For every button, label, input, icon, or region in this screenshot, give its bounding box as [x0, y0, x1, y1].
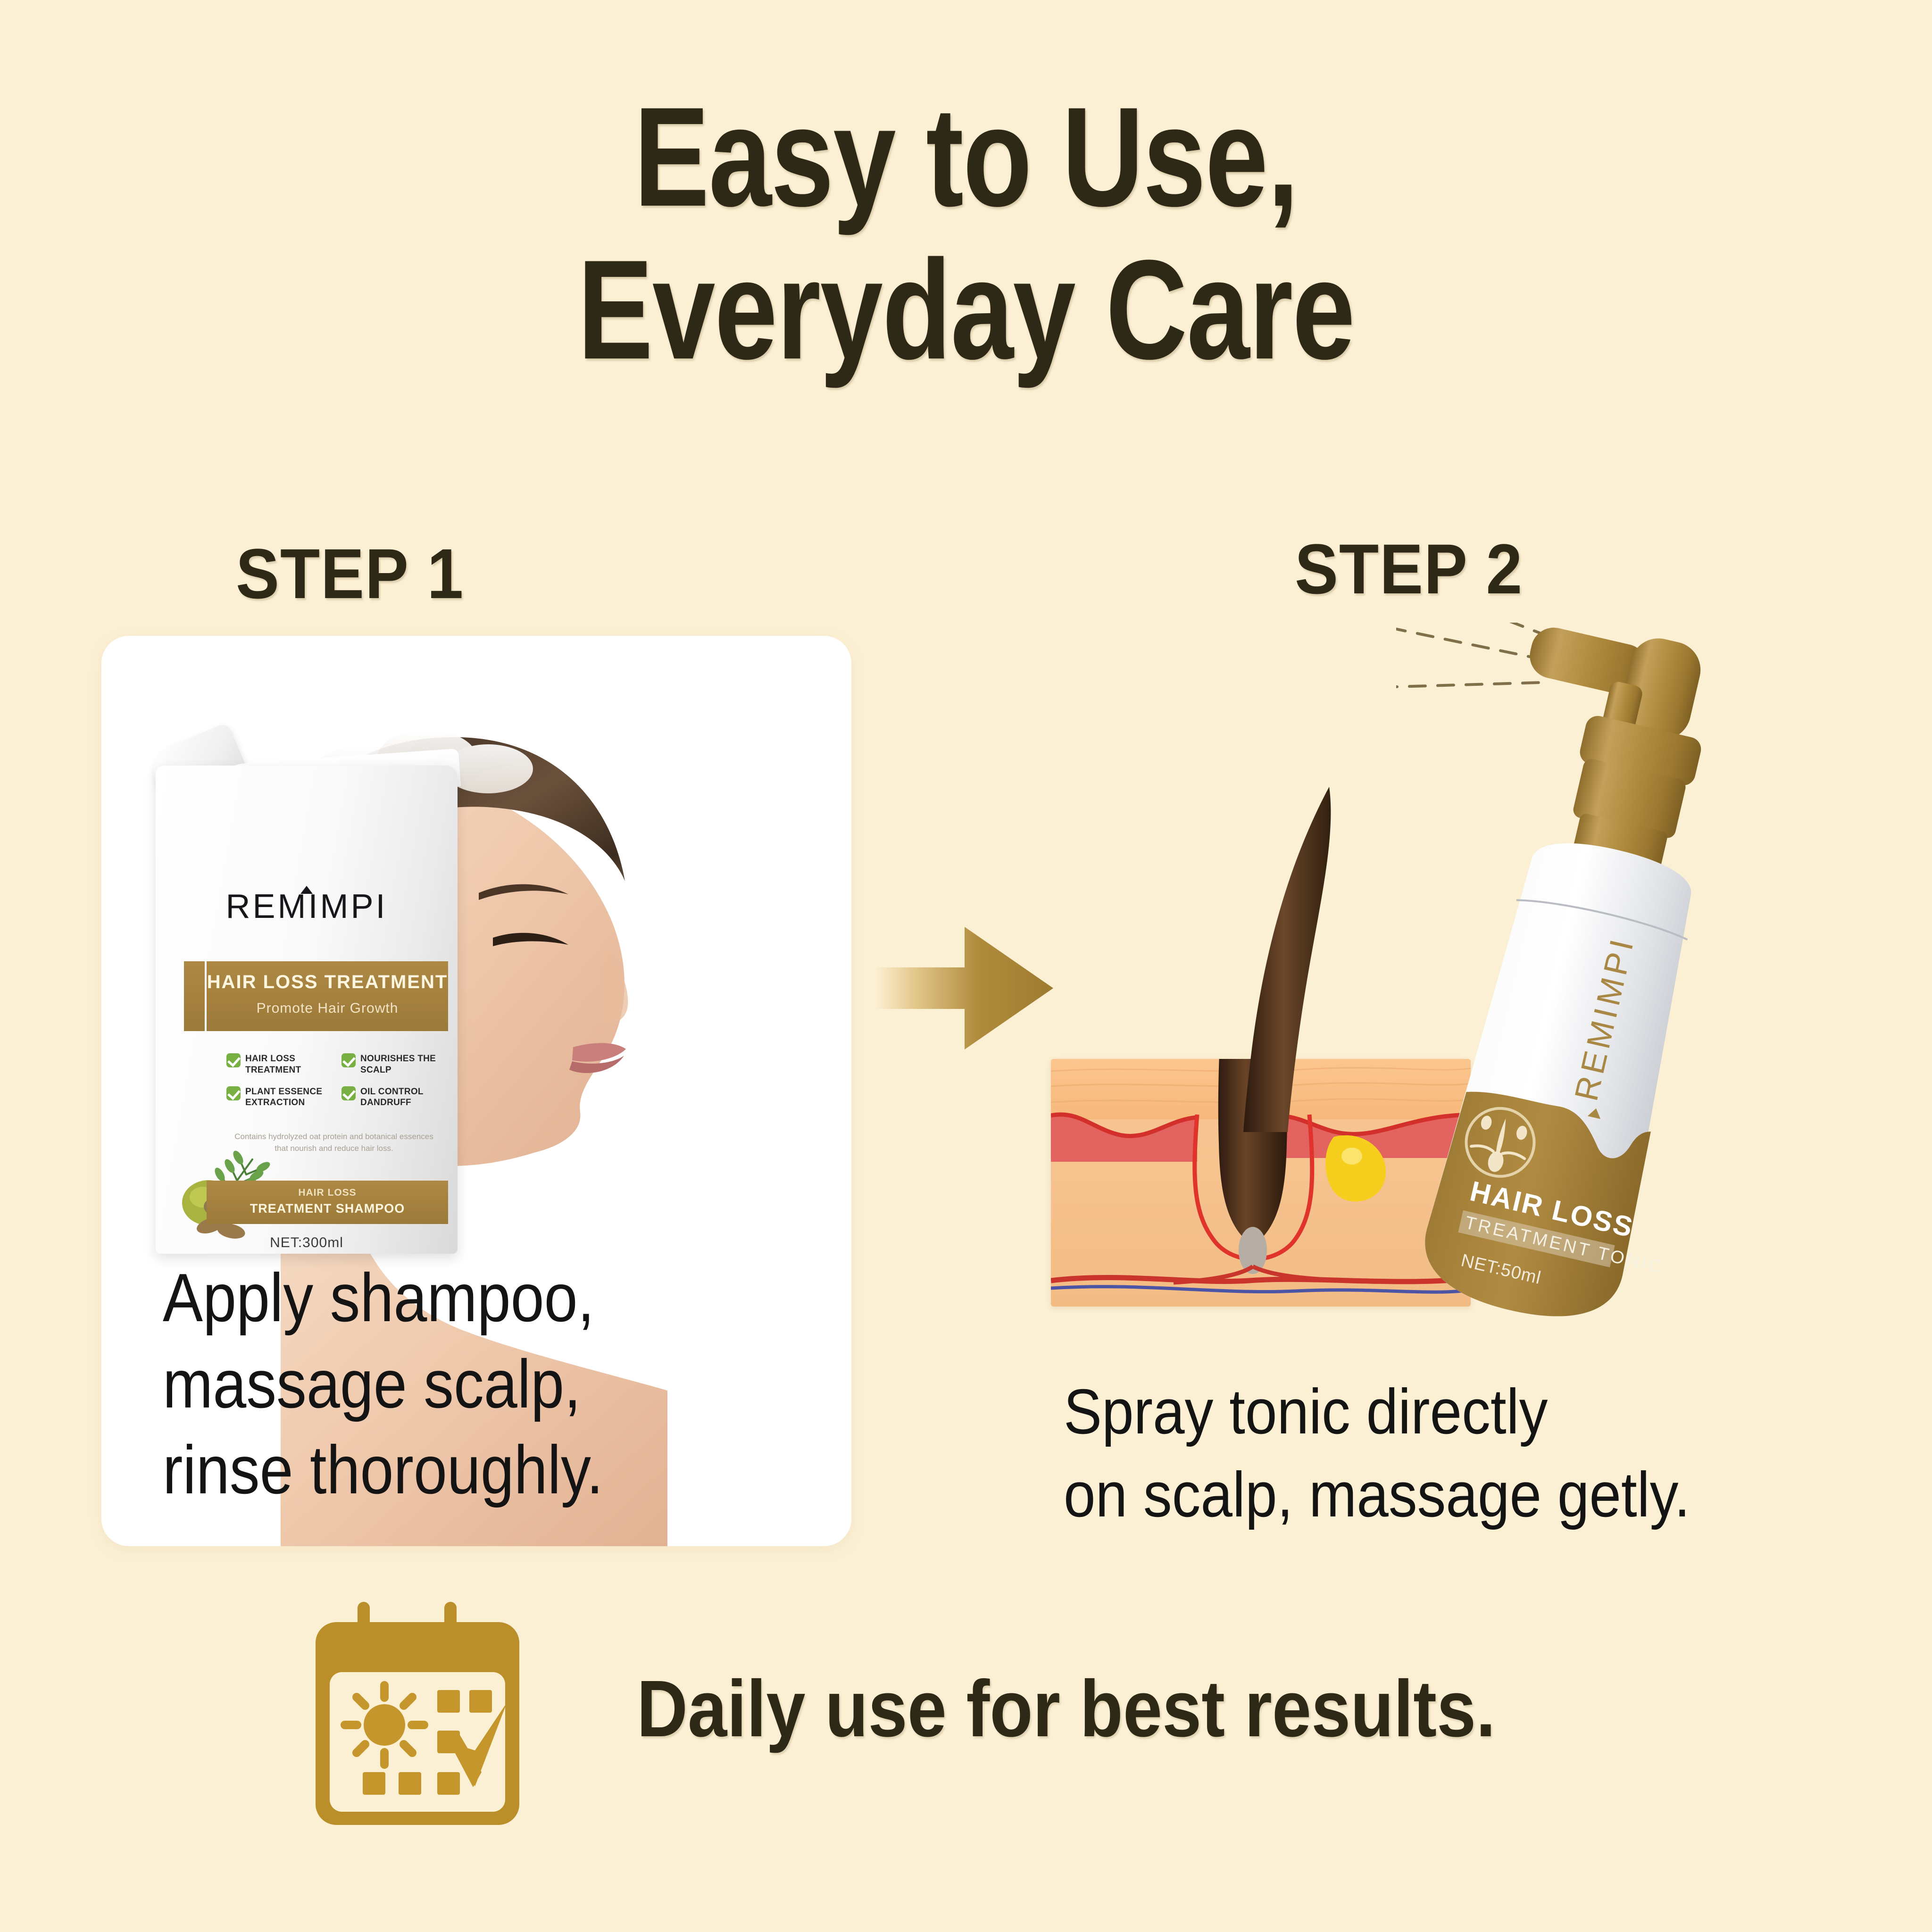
page-title-line-1: Easy to Use,: [193, 80, 1739, 233]
tonic-spray-bottle-product: REMIMPI HAIR LOSS TREATMENT TONIC NET:50…: [1396, 623, 1745, 1387]
pouch-title: HAIR LOSS TREATMENT: [207, 972, 448, 993]
check-icon: [226, 1086, 241, 1100]
page-title-line-2: Everyday Care: [193, 233, 1739, 386]
pouch-title-band: HAIR LOSS TREATMENT Promote Hair Growth: [207, 961, 448, 1031]
step-1-caption-line-3: rinse thoroughly.: [163, 1427, 765, 1513]
step-1-caption-line-1: Apply shampoo,: [163, 1255, 765, 1341]
arrow-right-icon: [875, 922, 1054, 1054]
feature-label: NOURISHES THE SCALP: [360, 1053, 448, 1076]
list-item: NOURISHES THE SCALP: [341, 1053, 448, 1076]
check-icon: [341, 1086, 356, 1100]
step-1-label: STEP 1: [236, 533, 464, 615]
step-2-caption-line-1: Spray tonic directly: [1064, 1370, 1828, 1453]
step-1-caption-line-2: massage scalp,: [163, 1341, 765, 1427]
step-1-caption: Apply shampoo, massage scalp, rinse thor…: [163, 1255, 765, 1513]
page-title: Easy to Use, Everyday Care: [193, 80, 1739, 386]
pouch-subtitle: Promote Hair Growth: [207, 1000, 448, 1016]
feature-label: OIL CONTROL DANDRUFF: [360, 1086, 448, 1109]
pouch-net-volume: NET:300ml: [156, 1235, 458, 1251]
pouch-footer-band: HAIR LOSS TREATMENT SHAMPOO: [207, 1181, 448, 1224]
shampoo-pouch-product: REMIMPI HAIR LOSS TREATMENT Promote Hair…: [156, 737, 458, 1254]
list-item: PLANT ESSENCE EXTRACTION: [226, 1086, 333, 1109]
pouch-body: REMIMPI HAIR LOSS TREATMENT Promote Hair…: [156, 766, 458, 1254]
pouch-footer-line-2: TREATMENT SHAMPOO: [207, 1201, 448, 1216]
pouch-gold-accent-bar: [184, 961, 205, 1031]
list-item: HAIR LOSS TREATMENT: [226, 1053, 333, 1076]
step-2-caption-line-2: on scalp, massage getly.: [1064, 1453, 1828, 1536]
calendar-check-icon: [309, 1601, 526, 1837]
step-transition-arrow: [875, 922, 1054, 1054]
pouch-feature-list: HAIR LOSS TREATMENT NOURISHES THE SCALP …: [226, 1053, 448, 1108]
calendar-check-glyph: [309, 1601, 526, 1837]
step-2-label: STEP 2: [1295, 528, 1523, 610]
pouch-footer-line-1: HAIR LOSS: [207, 1187, 448, 1199]
step-2-caption: Spray tonic directly on scalp, massage g…: [1064, 1370, 1828, 1536]
check-icon: [341, 1053, 356, 1067]
check-icon: [226, 1053, 241, 1067]
pouch-brand-logo: REMIMPI: [156, 886, 458, 926]
pouch-brand-text: REMIMPI: [225, 888, 387, 925]
feature-label: PLANT ESSENCE EXTRACTION: [245, 1086, 333, 1109]
footer-tagline: Daily use for best results.: [637, 1663, 1496, 1755]
list-item: OIL CONTROL DANDRUFF: [341, 1086, 448, 1109]
spray-bottle-illustration: REMIMPI HAIR LOSS TREATMENT TONIC NET:50…: [1396, 623, 1745, 1387]
feature-label: HAIR LOSS TREATMENT: [245, 1053, 333, 1076]
